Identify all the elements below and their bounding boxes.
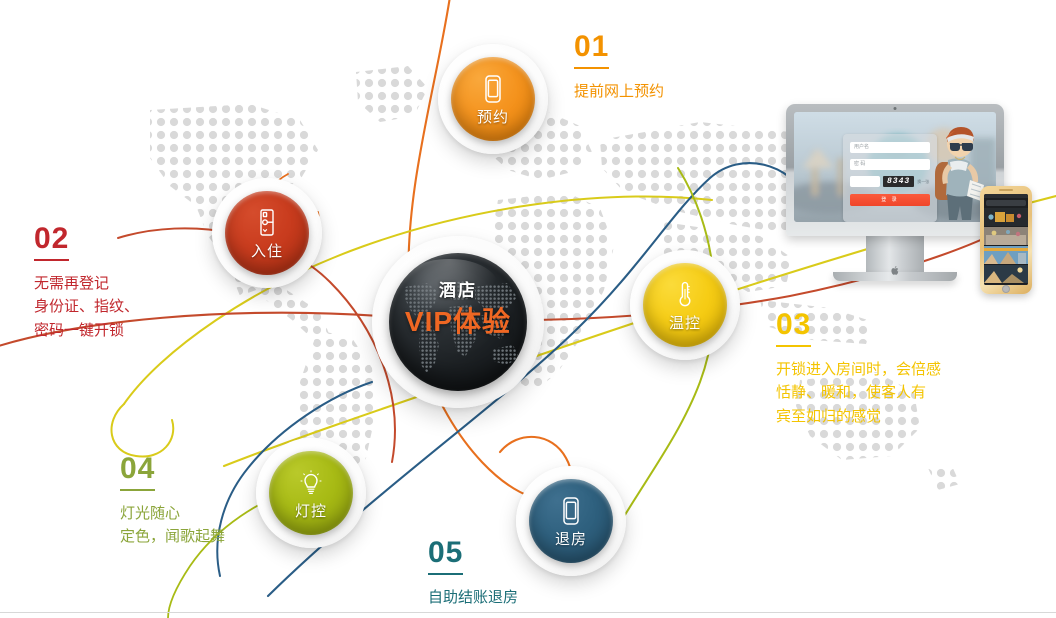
node-temperature[interactable]: 温控 <box>630 250 740 360</box>
caption-text: 开锁进入房间时，会倍感 恬静、暖和，使客人有 宾至如归的感觉 <box>776 358 941 428</box>
caption-text: 灯光随心 定色，闻歌起舞 <box>120 502 225 549</box>
mobile-gallery-tile[interactable] <box>984 246 1028 264</box>
caption-03: 03 开锁进入房间时，会倍感 恬静、暖和，使客人有 宾至如归的感觉 <box>776 310 941 428</box>
caption-number: 05 <box>428 538 463 575</box>
apple-logo-icon <box>890 265 900 276</box>
door-lock-icon <box>250 206 284 240</box>
bottom-divider <box>0 612 1056 613</box>
node-appointment[interactable]: 预约 <box>438 44 548 154</box>
phone-icon <box>554 494 588 528</box>
mobile-gallery-tile[interactable] <box>984 227 1028 245</box>
imac-bezel: 用户名 密 码 8343 换一张 登 录 <box>786 104 1004 236</box>
node-checkin[interactable]: 入住 <box>212 178 322 288</box>
mobile-gallery-tile[interactable] <box>984 265 1028 283</box>
caption-number: 02 <box>34 224 69 261</box>
username-field[interactable]: 用户名 <box>850 142 930 153</box>
node-label: 退房 <box>555 528 587 549</box>
node-disc: 入住 <box>225 191 309 275</box>
captcha-row: 8343 换一张 <box>850 176 930 187</box>
node-label: 入住 <box>251 240 283 261</box>
captcha-image[interactable]: 8343 <box>883 176 914 187</box>
imac-camera <box>894 107 897 110</box>
caption-04: 04 灯光随心 定色，闻歌起舞 <box>120 454 225 549</box>
iphone-status-bar <box>984 194 1028 198</box>
node-disc: 退房 <box>529 479 613 563</box>
login-card: 用户名 密 码 8343 换一张 登 录 <box>843 134 937 222</box>
caption-05: 05 自助结账退房 <box>428 538 518 609</box>
caption-text: 无需再登记 身份证、指纹、 密码一键开锁 <box>34 272 139 342</box>
caption-number: 04 <box>120 454 155 491</box>
iphone-home-button[interactable] <box>1002 285 1010 293</box>
login-submit-button[interactable]: 登 录 <box>850 194 930 206</box>
captcha-input[interactable] <box>850 176 880 187</box>
iphone-screen <box>984 194 1028 285</box>
device-mockups: 用户名 密 码 8343 换一张 登 录 <box>778 104 1056 320</box>
node-disc: 灯控 <box>269 451 353 535</box>
mobile-search-bar[interactable] <box>986 200 1026 206</box>
iphone-mockup <box>980 186 1032 294</box>
mobile-gallery-tile[interactable] <box>984 208 1028 226</box>
node-checkout[interactable]: 退房 <box>516 466 626 576</box>
caption-number: 03 <box>776 310 811 347</box>
imac-mockup: 用户名 密 码 8343 换一张 登 录 <box>786 104 1004 281</box>
globe-sphere <box>389 253 527 391</box>
globe-dotted-map <box>389 253 527 391</box>
caption-02: 02 无需再登记 身份证、指纹、 密码一键开锁 <box>34 224 139 342</box>
infographic-canvas: 酒店 VIP体验 预约 入住 <box>0 0 1056 618</box>
caption-number: 01 <box>574 32 609 69</box>
thermometer-icon <box>668 278 702 312</box>
orbit-curve-yellow-loop <box>112 404 174 457</box>
lightbulb-icon <box>294 466 328 500</box>
imac-screen: 用户名 密 码 8343 换一张 登 录 <box>794 112 996 222</box>
node-label: 预约 <box>477 106 509 127</box>
caption-01: 01 提前网上预约 <box>574 32 664 103</box>
caption-text: 提前网上预约 <box>574 80 664 103</box>
password-field[interactable]: 密 码 <box>850 159 930 170</box>
phone-icon <box>476 72 510 106</box>
node-disc: 温控 <box>643 263 727 347</box>
center-globe: 酒店 VIP体验 <box>372 236 544 408</box>
node-label: 灯控 <box>295 500 327 521</box>
node-disc: 预约 <box>451 57 535 141</box>
iphone-speaker <box>999 189 1013 191</box>
caption-text: 自助结账退房 <box>428 586 518 609</box>
node-label: 温控 <box>669 312 701 333</box>
node-lighting[interactable]: 灯控 <box>256 438 366 548</box>
